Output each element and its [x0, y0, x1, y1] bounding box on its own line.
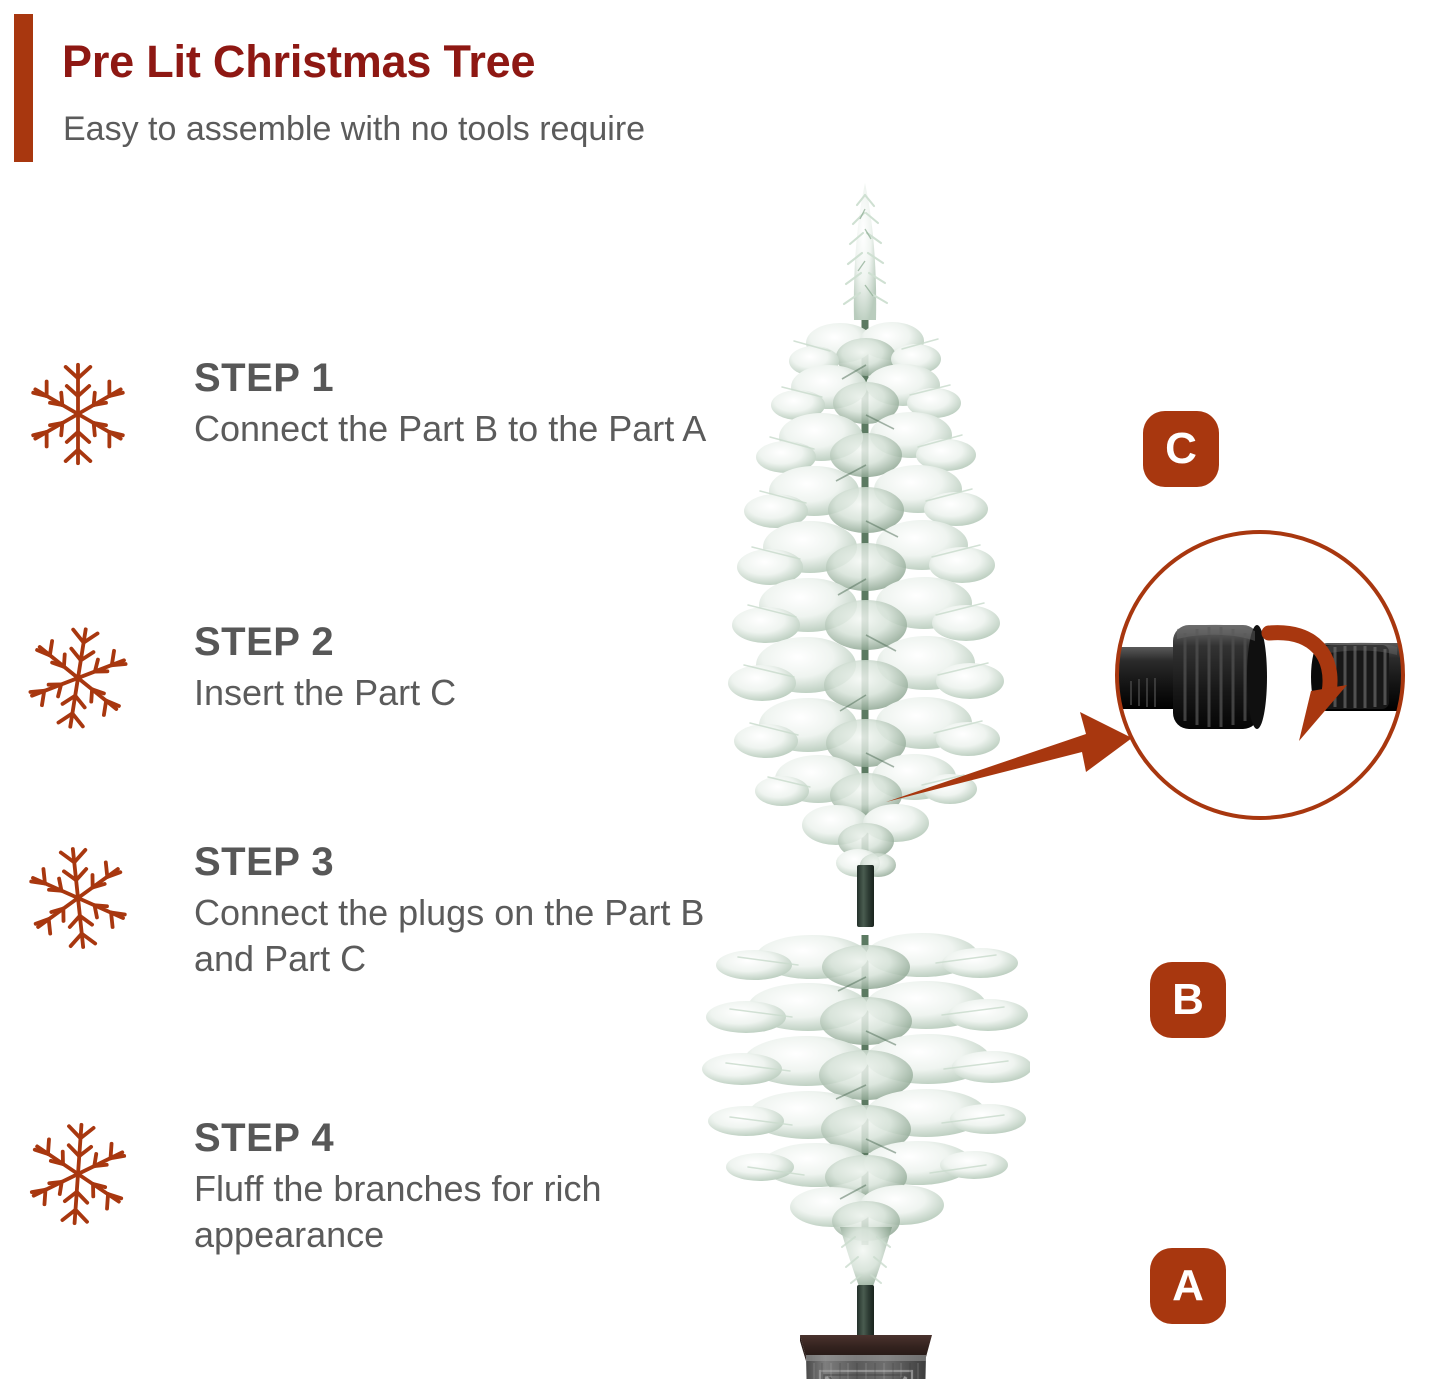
step-title-4: STEP 4 [194, 1118, 734, 1158]
step-description-3: Connect the plugs on the Part B and Part… [194, 890, 734, 982]
wooden-planter-base-part-a [800, 1335, 932, 1379]
instruction-sheet: Pre Lit Christmas Tree Easy to assemble … [0, 0, 1445, 1379]
step-text-1: STEP 1 Connect the Part B to the Part A [194, 358, 734, 452]
snowflake-icon [22, 358, 134, 470]
snowflake-icon [22, 842, 134, 954]
part-badge-a: A [1150, 1248, 1226, 1324]
tree-pole-lower [857, 1285, 874, 1339]
connector-detail-circle [1085, 525, 1435, 825]
step-text-3: STEP 3 Connect the plugs on the Part B a… [194, 842, 734, 982]
part-badge-c: C [1143, 411, 1219, 487]
page-subtitle: Easy to assemble with no tools require [63, 110, 645, 149]
step-description-1: Connect the Part B to the Part A [194, 406, 734, 452]
step-text-2: STEP 2 Insert the Part C [194, 622, 734, 716]
step-title-2: STEP 2 [194, 622, 734, 662]
snowflake-icon [22, 622, 134, 734]
step-title-3: STEP 3 [194, 842, 734, 882]
tree-middle-section-part-b [702, 933, 1030, 1289]
step-description-4: Fluff the branches for rich appearance [194, 1166, 734, 1258]
part-badge-b: B [1150, 962, 1226, 1038]
step-description-2: Insert the Part C [194, 670, 734, 716]
snowflake-icon [22, 1118, 134, 1230]
step-text-4: STEP 4 Fluff the branches for rich appea… [194, 1118, 734, 1258]
tree-pole-upper [857, 865, 874, 927]
header: Pre Lit Christmas Tree Easy to assemble … [0, 10, 900, 160]
page-title: Pre Lit Christmas Tree [62, 36, 535, 88]
step-title-1: STEP 1 [194, 358, 734, 398]
header-accent-bar [14, 14, 33, 162]
